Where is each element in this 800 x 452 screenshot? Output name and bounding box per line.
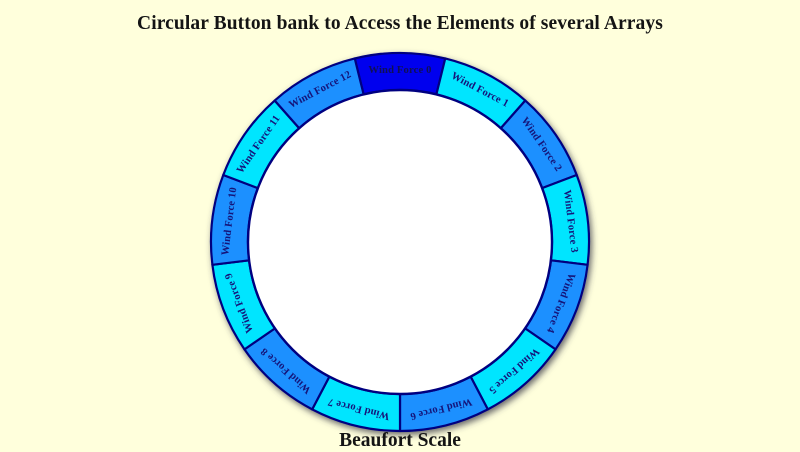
wind-force-button-0[interactable] bbox=[355, 53, 445, 94]
app-canvas: Circular Button bank to Access the Eleme… bbox=[0, 0, 800, 450]
wheel-hub bbox=[248, 90, 552, 394]
wheel-svg[interactable]: Wind Force 0Wind Force 1Wind Force 2Wind… bbox=[0, 0, 800, 450]
wheel-caption: Beaufort Scale bbox=[0, 430, 800, 452]
circular-button-bank[interactable]: Wind Force 0Wind Force 1Wind Force 2Wind… bbox=[0, 0, 800, 450]
